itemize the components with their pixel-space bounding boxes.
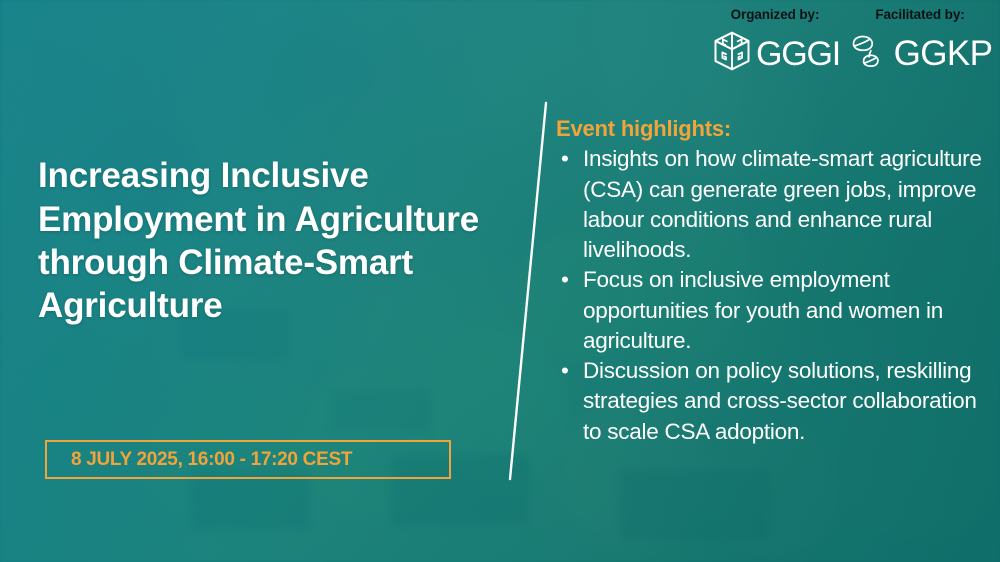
list-item: • Discussion on policy solutions, reskil… (556, 356, 986, 447)
date-badge-text: 8 JULY 2025, 16:00 - 17:20 CEST (71, 449, 352, 471)
highlights-list: • Insights on how climate-smart agricult… (556, 144, 986, 447)
gggi-wordmark: GGGI (756, 37, 840, 71)
bullet-icon: • (561, 356, 569, 386)
partner-organized-by: Organized by: (700, 8, 850, 78)
bullet-icon: • (561, 265, 569, 295)
list-item-text: Discussion on policy solutions, reskilli… (583, 358, 977, 444)
list-item: • Focus on inclusive employment opportun… (556, 265, 986, 356)
highlights-heading: Event highlights: (556, 116, 986, 142)
date-badge: 8 JULY 2025, 16:00 - 17:20 CEST (45, 440, 451, 479)
list-item: • Insights on how climate-smart agricult… (556, 144, 986, 265)
event-highlights: Event highlights: • Insights on how clim… (556, 116, 986, 447)
bullet-icon: • (561, 144, 569, 174)
organized-by-label: Organized by: (731, 8, 820, 22)
ggkp-leaf-icon (848, 29, 892, 78)
gggi-cube-icon (710, 29, 754, 78)
facilitated-by-label: Facilitated by: (875, 8, 964, 22)
ggkp-logo: GGKP (848, 30, 993, 78)
list-item-text: Focus on inclusive employment opportunit… (583, 267, 943, 353)
list-item-text: Insights on how climate-smart agricultur… (583, 146, 982, 262)
ggkp-wordmark: GGKP (894, 36, 993, 71)
page-title: Increasing Inclusive Employment in Agric… (38, 154, 538, 327)
partner-logos: Organized by: (700, 8, 992, 94)
gggi-logo: GGGI (710, 30, 840, 78)
event-banner: Organized by: (0, 0, 1000, 562)
partner-facilitated-by: Facilitated by: GG (850, 8, 990, 78)
